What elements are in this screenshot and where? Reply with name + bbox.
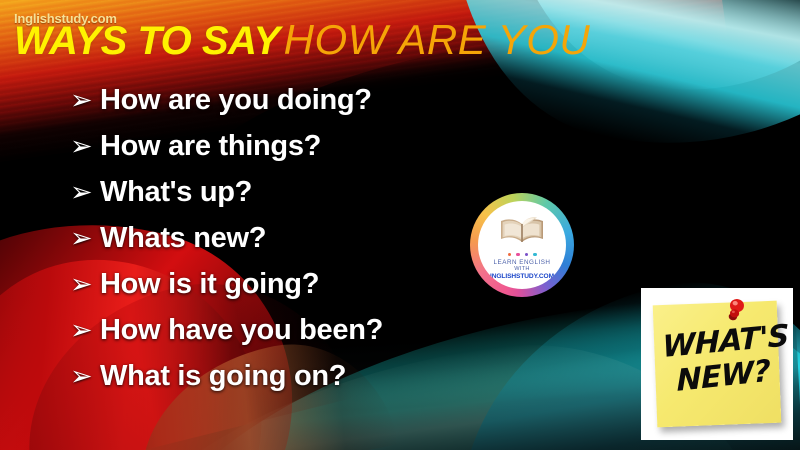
sticky-note: WHAT'S NEW? <box>641 288 793 440</box>
list-item: ➢ Whats new? <box>70 222 500 268</box>
list-item-label: How are things? <box>100 130 321 163</box>
page-title-part-secondary: HOW ARE YOU <box>284 16 591 63</box>
list-item: ➢ What's up? <box>70 176 500 222</box>
arrow-bullet-icon: ➢ <box>70 271 100 298</box>
logo-tagline-line-2: WITH <box>514 266 530 272</box>
list-item: ➢ What is going on? <box>70 360 500 406</box>
arrow-bullet-icon: ➢ <box>70 133 100 160</box>
logo-dots-decoration <box>508 253 537 257</box>
arrow-bullet-icon: ➢ <box>70 317 100 344</box>
sticky-note-line-2: NEW? <box>673 357 773 397</box>
arrow-bullet-icon: ➢ <box>70 87 100 114</box>
list-item-label: How is it going? <box>100 268 319 301</box>
list-item: ➢ How are things? <box>70 130 500 176</box>
pushpin-icon <box>723 295 748 324</box>
brand-logo-inner: LEARN ENGLISH WITH INGLISHSTUDY.COM <box>478 201 566 289</box>
list-item-label: What is going on? <box>100 360 346 393</box>
list-item: ➢ How is it going? <box>70 268 500 314</box>
list-item: ➢ How have you been? <box>70 314 500 360</box>
list-item-label: What's up? <box>100 176 252 209</box>
list-item-label: How have you been? <box>100 314 383 347</box>
list-item-label: Whats new? <box>100 222 266 255</box>
arrow-bullet-icon: ➢ <box>70 363 100 390</box>
list-item: ➢ How are you doing? <box>70 84 500 130</box>
phrase-list: ➢ How are you doing? ➢ How are things? ➢… <box>70 84 500 406</box>
list-item-label: How are you doing? <box>100 84 372 117</box>
brand-logo-badge: LEARN ENGLISH WITH INGLISHSTUDY.COM <box>470 193 574 297</box>
slide-canvas: Inglishstudy.com WAYS TO SAYHOW ARE YOU … <box>0 0 800 450</box>
arrow-bullet-icon: ➢ <box>70 225 100 252</box>
logo-tagline-line-1: LEARN ENGLISH <box>494 259 551 266</box>
page-title: WAYS TO SAYHOW ARE YOU <box>14 19 590 61</box>
logo-domain-text: INGLISHSTUDY.COM <box>490 273 554 280</box>
sticky-note-paper: WHAT'S NEW? <box>653 301 782 428</box>
sticky-note-text: WHAT'S NEW? <box>662 327 774 394</box>
open-book-icon <box>499 216 545 251</box>
page-title-part-primary: WAYS TO SAY <box>14 19 280 63</box>
arrow-bullet-icon: ➢ <box>70 179 100 206</box>
